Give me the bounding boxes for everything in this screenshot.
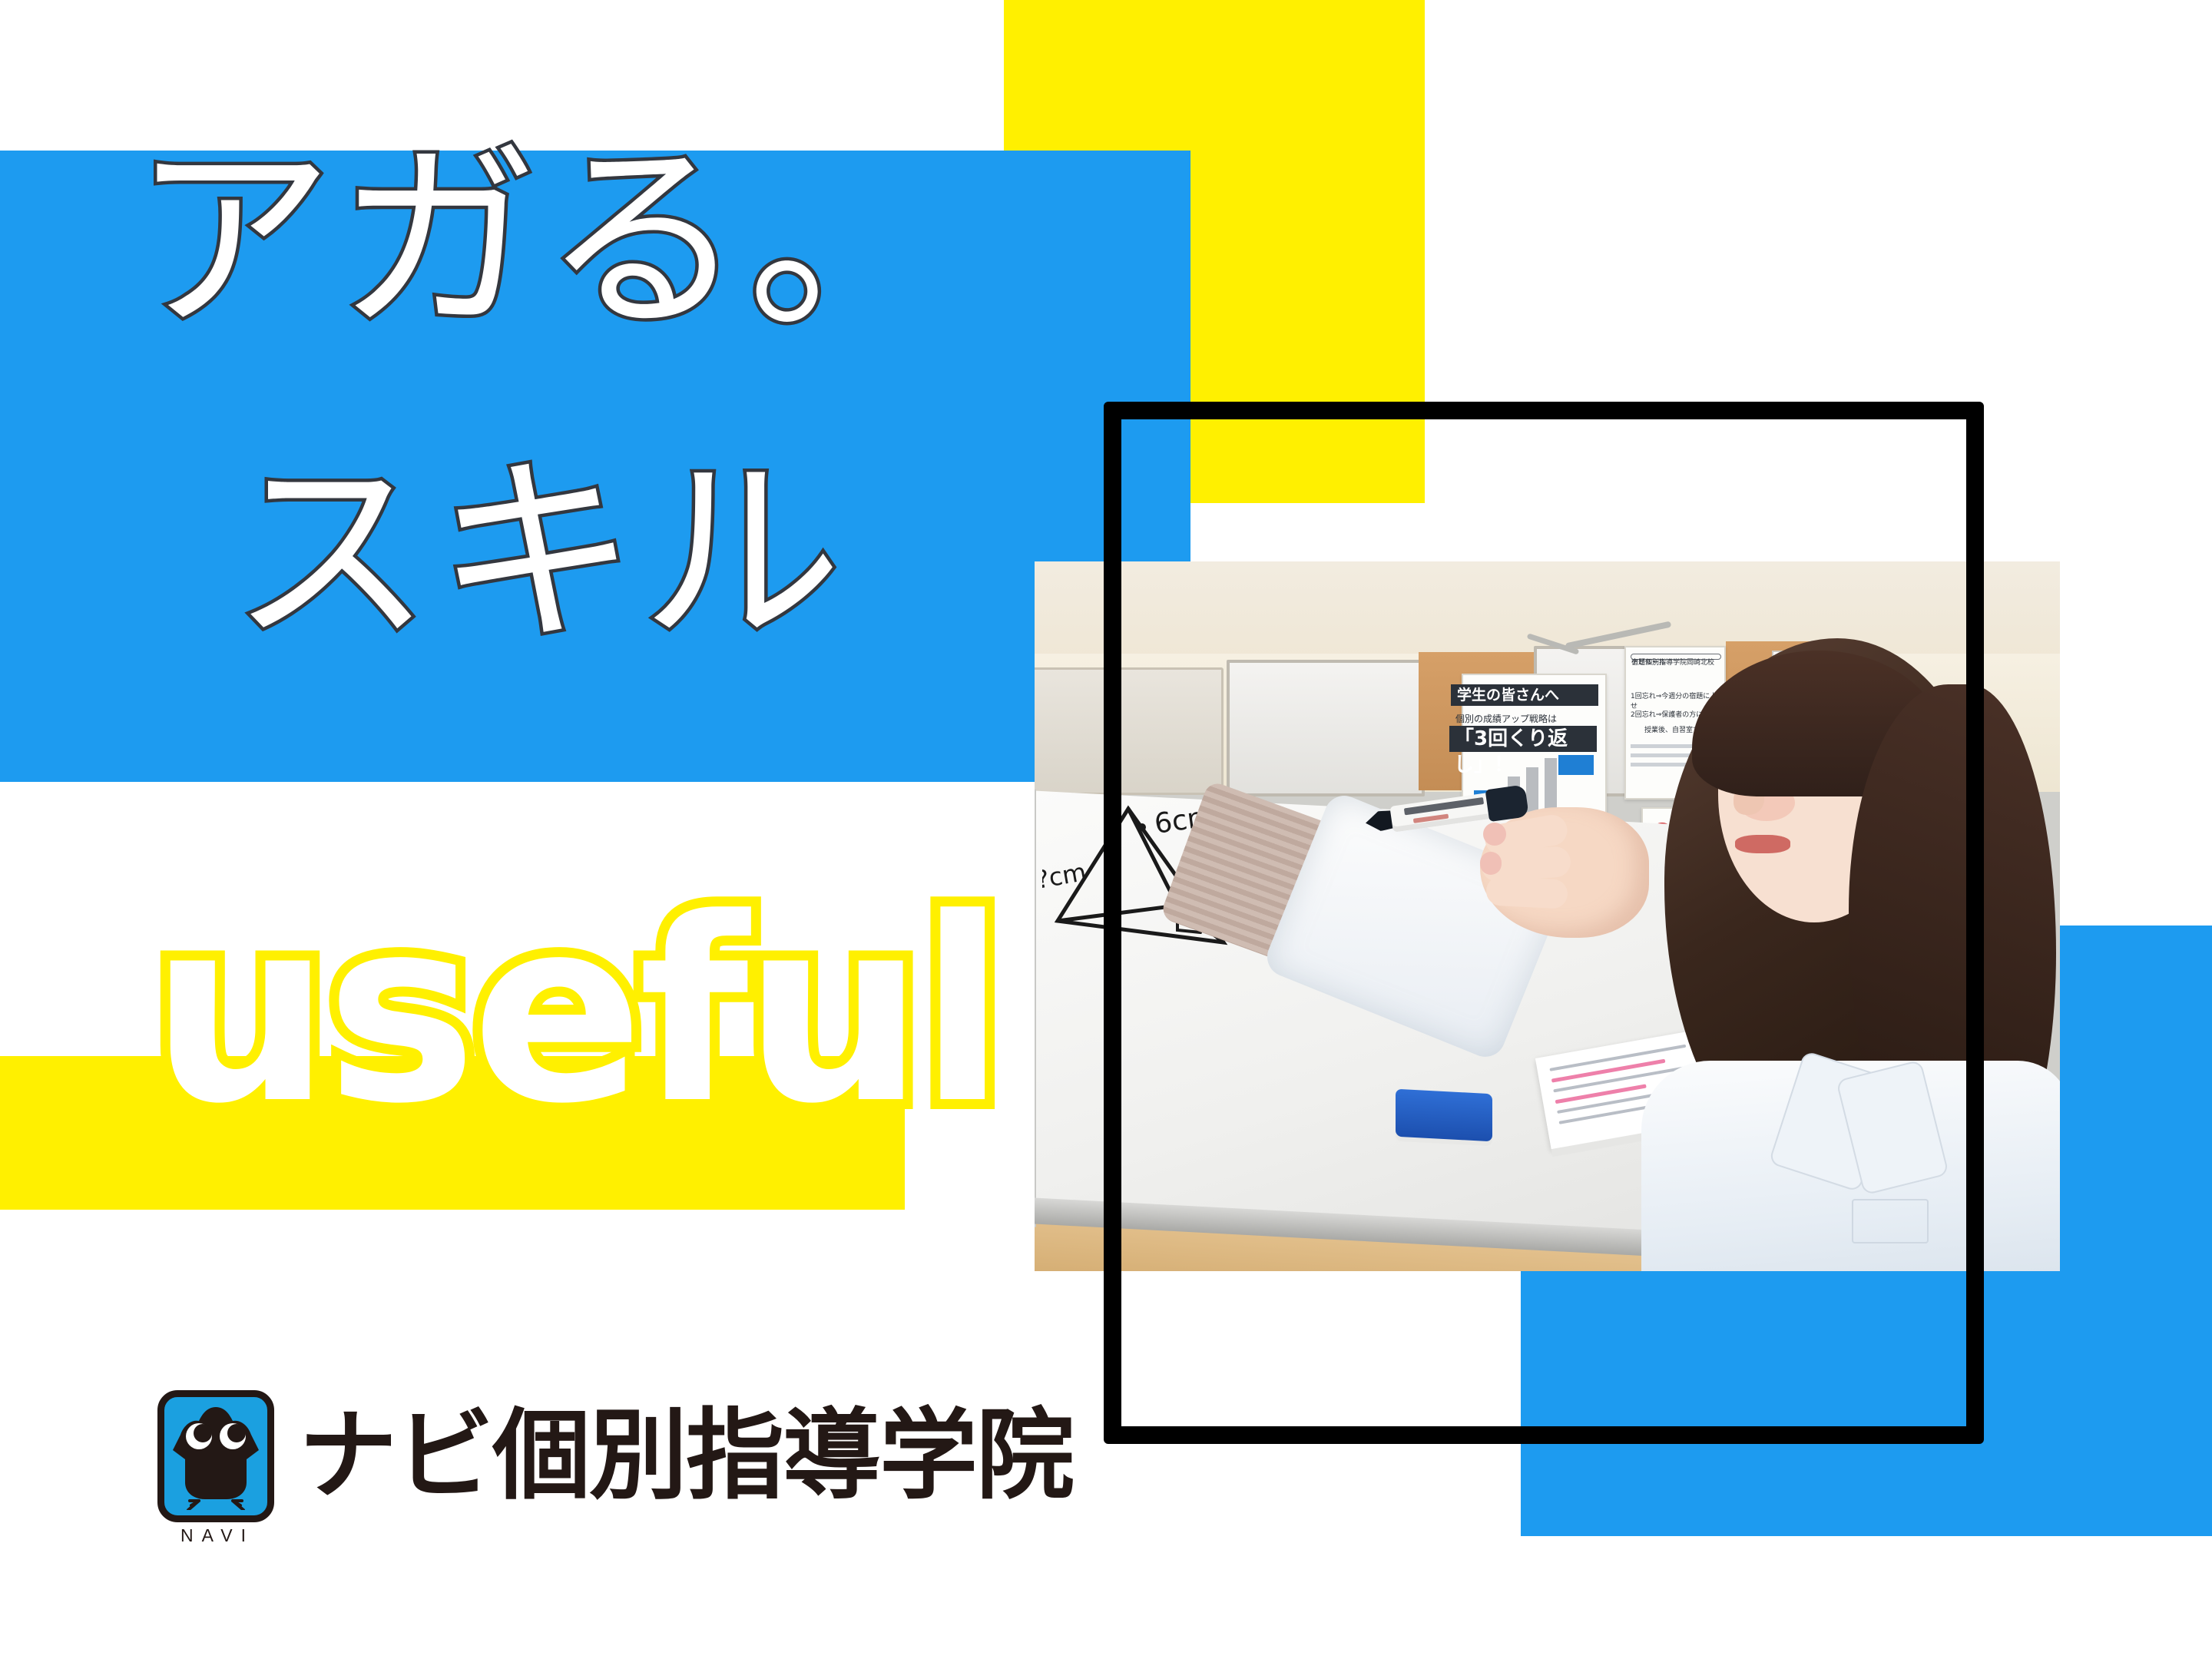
logo-navi-caption: NAVI: [164, 1525, 271, 1546]
owl-mascot-icon: NAVI: [157, 1390, 274, 1522]
poster-canvas: B 学生の皆さんへ 個別の成績アップ戦略は 「3回くり返し」！ テストまでに 3…: [0, 0, 2212, 1659]
owl-mascot-glyph: [168, 1402, 263, 1510]
photo-frame-outline: [1104, 402, 1984, 1444]
headline-line-1: アガる。: [132, 140, 953, 341]
brand-logo: NAVI ナビ個別指導学院: [157, 1390, 1073, 1522]
accent-word-useful: useful: [151, 885, 1001, 1138]
diagram-label-left: ?cm: [1042, 857, 1088, 895]
whiteboard-frame-left: [1035, 789, 1036, 1227]
logo-brand-name: ナビ個別指導学院: [299, 1407, 1073, 1505]
headline-line-2: スキル: [230, 453, 846, 654]
